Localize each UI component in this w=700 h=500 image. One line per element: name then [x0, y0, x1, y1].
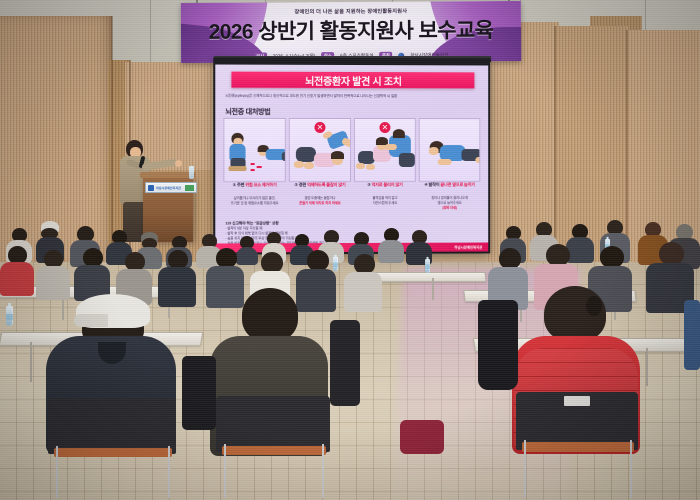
water-bottle-6: [425, 259, 430, 273]
panel-caption-headings: ① 주변 위험 요소 제거하기 ② 경련 억제하도록 붙잡지 않기 ③ 억지로 …: [223, 183, 480, 196]
podium-sign-accent: [185, 185, 194, 191]
podium-sign: 하남시장애인복지관: [145, 182, 197, 193]
chair-seat-middle: [222, 446, 326, 455]
water-bottle-4: [6, 306, 13, 326]
hanging-coat-right: [478, 300, 518, 390]
panel-2-heading: ② 경련 억제하도록 붙잡지 않기: [289, 183, 351, 196]
event-banner: 장애인의 더 나은 삶을 지원하는 장애인활동지원사 2026 상반기 활동지원…: [181, 1, 521, 63]
chair-front-middle: [216, 396, 330, 452]
podium-sign-text: 하남시장애인복지관: [156, 186, 181, 190]
podium-water-bottle: [189, 166, 194, 179]
slide-title: 뇌전증환자 발견 시 조치: [231, 72, 474, 89]
projection-screen: 뇌전증환자 발견 시 조치 뇌전증(epilepsy)은 신체적으로나 정신적으…: [213, 57, 490, 254]
panel-1-body: 날카롭거나 모서리가 많은 물건, 뜨거운 것 등 위험요소를 치워주세요: [223, 196, 285, 220]
notes-heading: 119 신고해야 하는 "응급상황" 상황: [225, 221, 278, 225]
presentation-slide: 뇌전증환자 발견 시 조치 뇌전증(epilepsy)은 신체적으로나 정신적으…: [215, 64, 488, 252]
panel-3-heading: ③ 억지로 물리지 않기: [354, 183, 416, 196]
podium-logo-icon: [148, 185, 154, 191]
panel-2-body: 경련 도중에는 붙잡거나 흔들기 억제 억지로 하지 마세요: [289, 196, 351, 220]
seminar-hall-photo: 장애인의 더 나은 삶을 지원하는 장애인활동지원사 2026 상반기 활동지원…: [0, 0, 700, 500]
attendee-mid-13: [646, 242, 694, 308]
panel-caption-bodies: 날카롭거나 모서리가 많은 물건, 뜨거운 것 등 위험요소를 치워주세요 경련…: [223, 196, 480, 221]
illustration-panel-4: [419, 118, 480, 182]
podium-top-surface: [140, 172, 196, 178]
floor-bag-red: [400, 420, 444, 454]
slide-description: 뇌전증(epilepsy)은 신체적으로나 정신적으로 과도한 전기 신호가 발…: [225, 94, 478, 100]
attendee-mid-1: [0, 246, 34, 294]
prohibited-icon-2: ✕: [314, 122, 325, 133]
chair-front-left: [48, 398, 176, 454]
chair-seat-left: [54, 448, 172, 457]
panel-4-heading: ④ 발작이 끝나면 옆으로 눕히기: [419, 183, 480, 196]
illustration-panel-1: [223, 118, 285, 182]
prohibited-icon-3: ✕: [379, 122, 390, 133]
illustration-panel-2: ✕: [289, 118, 351, 182]
panel-1-heading: ① 주변 위험 요소 제거하기: [223, 183, 285, 196]
hanging-coat-middle: [330, 320, 360, 406]
chair-seat-right: [522, 442, 634, 452]
attendee-mid-9: [344, 254, 382, 308]
panel-4-body: 침이나 분비물이 흘러나오게 옆으로 눕혀주세요 (회복 자세): [419, 196, 480, 220]
slide-subtitle: 뇌전증 대처방법: [225, 107, 270, 117]
slide-illustration-panels: ✕ ✕: [223, 118, 480, 182]
banner-title: 2026 상반기 활동지원사 보수교육: [181, 14, 521, 46]
hanging-bag-left: [182, 356, 216, 430]
illustration-panel-3: ✕: [354, 118, 416, 182]
panel-3-body: 물직임을 억지 말고 자연스럽게 두세요: [354, 196, 416, 220]
chair-tag-label: [564, 396, 590, 406]
hanging-bag-far-right: [684, 300, 700, 370]
presenter-hand: [175, 160, 182, 167]
